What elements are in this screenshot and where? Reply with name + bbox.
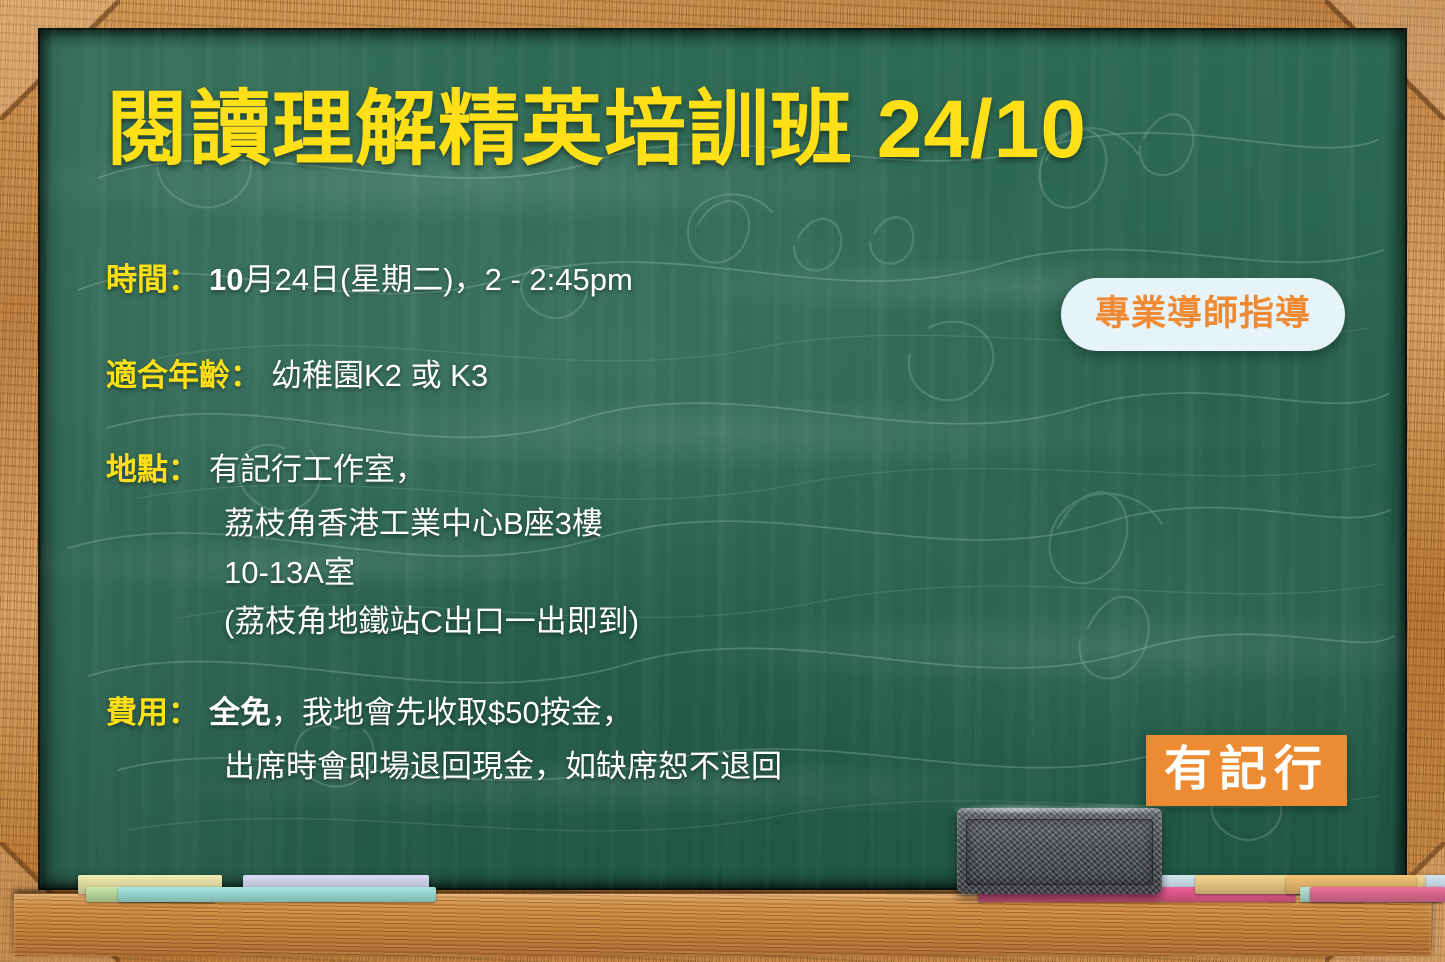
chalk-cyan [118,887,436,902]
detail-age: 適合年齡： 幼稚園K2 或 K3 [106,352,1367,400]
place-line-4: (荔枝角地鐵站C出口一出即到) [224,598,1367,647]
chalk-rose [1310,887,1445,902]
fee-label: 費用： [106,689,199,737]
poster-title: 閱讀理解精英培訓班 24/10 [106,86,1347,175]
brand-logo-text: 有記行 [1164,744,1329,794]
chalkboard-surface: 閱讀理解精英培訓班 24/10 專業導師指導 時間： 10月24日(星期二)，2… [38,28,1407,890]
place-line-3: 10-13A室 [224,549,1367,598]
time-label: 時間： [106,256,199,304]
chalkboard-poster: 閱讀理解精英培訓班 24/10 專業導師指導 時間： 10月24日(星期二)，2… [0,0,1445,962]
time-value-rest: 月24日(星期二)，2 - 2:45pm [243,262,632,297]
place-line-1: 有記行工作室， [209,446,426,494]
fee-value-rest: ，我地會先收取$50按金， [271,695,633,730]
age-label: 適合年齡： [106,352,261,400]
detail-time: 時間： 10月24日(星期二)，2 - 2:45pm [106,256,1367,304]
time-value: 10月24日(星期二)，2 - 2:45pm [209,256,633,304]
chalk-ledge [14,894,1431,956]
place-line-2: 荔枝角香港工業中心B座3樓 [224,500,1367,549]
detail-place: 地點： 有記行工作室， 荔枝角香港工業中心B座3樓 10-13A室 (荔枝角地鐵… [106,446,1367,647]
brand-logo: 有記行 [1146,735,1347,806]
time-value-bold: 10 [209,262,243,297]
fee-value-bold: 全免 [209,695,271,730]
chalkboard-eraser [957,808,1162,894]
place-label: 地點： [106,446,199,494]
eraser-inner-border [966,819,1153,885]
fee-value: 全免，我地會先收取$50按金， [209,689,633,737]
chalk-dust [955,803,1164,813]
age-value: 幼稚園K2 或 K3 [271,352,488,400]
